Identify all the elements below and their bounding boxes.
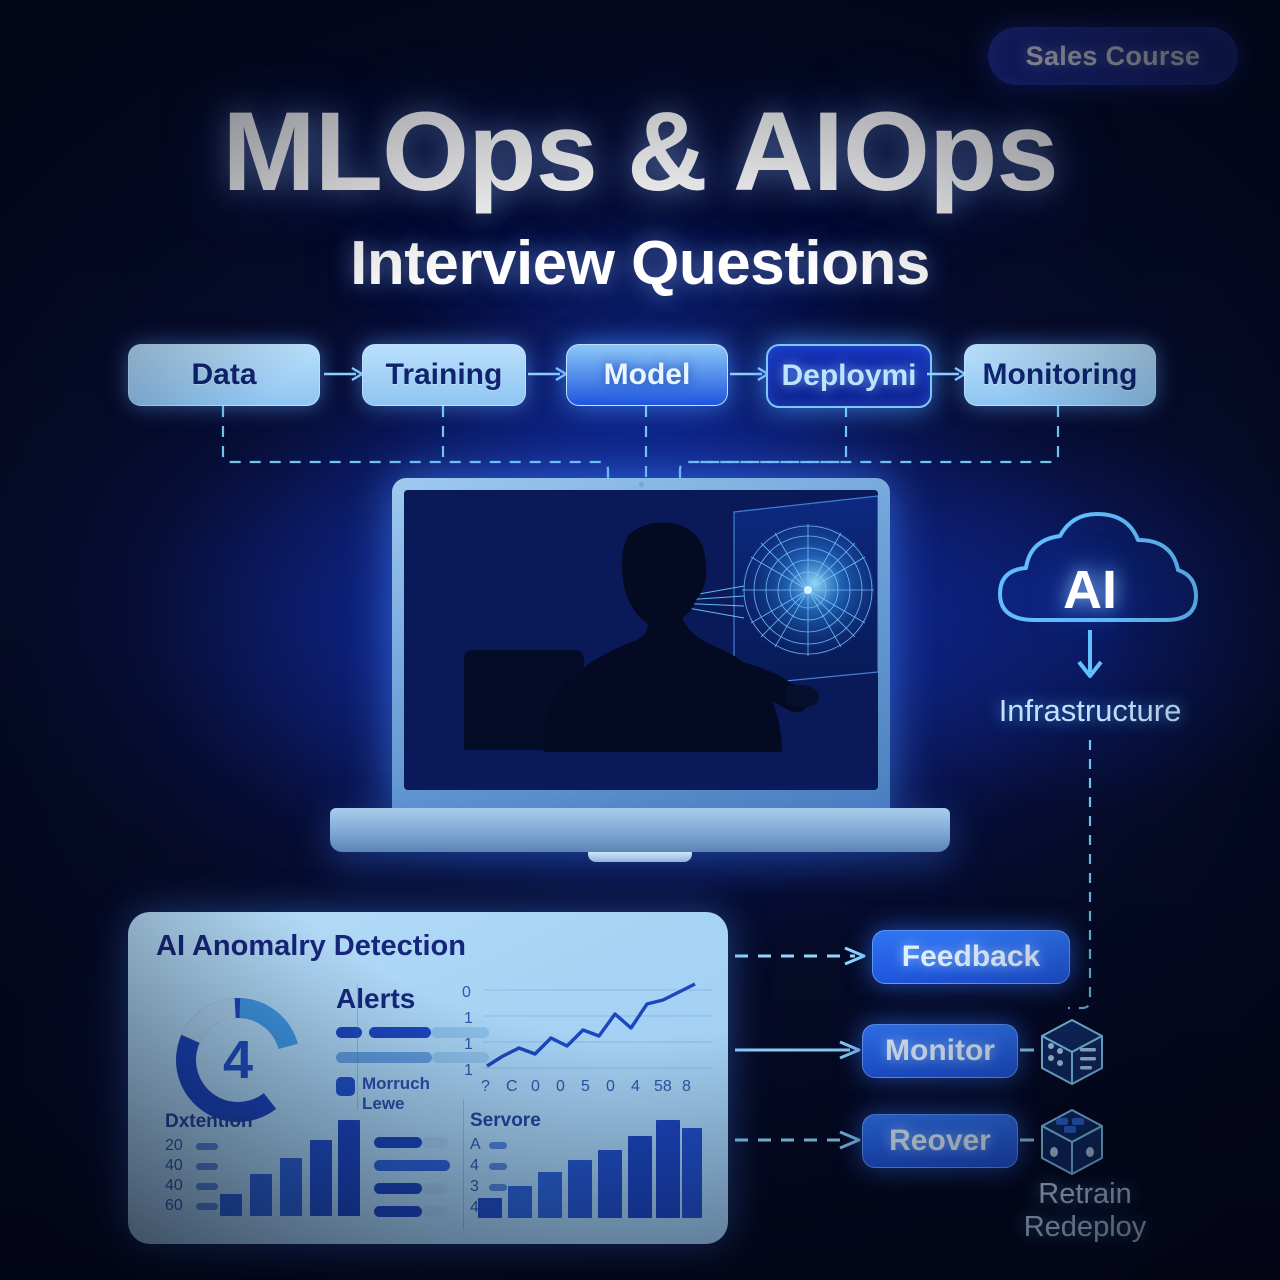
poster-canvas: Sales Course MLOps & AIOps Interview Que…	[0, 0, 1280, 1280]
vignette-overlay	[0, 0, 1280, 1280]
